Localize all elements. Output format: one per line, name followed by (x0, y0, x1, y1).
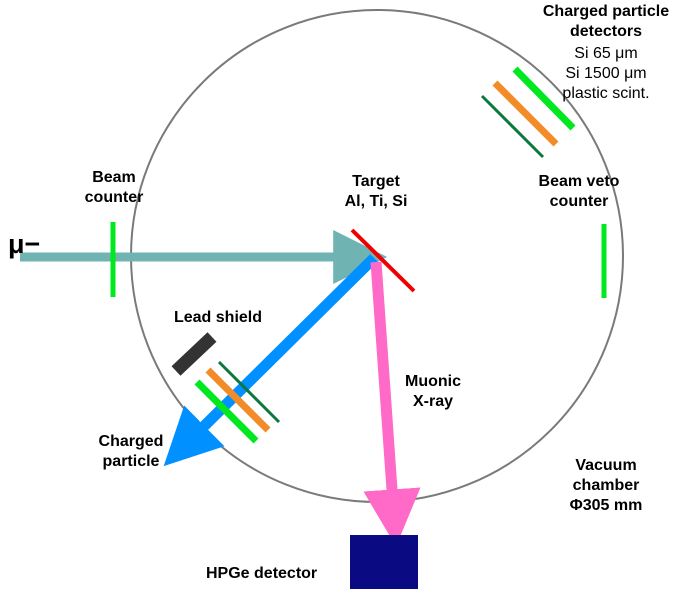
charged-particle-detectors-specs: Si 65 μm Si 1500 μm plastic scint. (516, 44, 696, 104)
beam-counter-label: Beam counter (62, 168, 166, 208)
lead-shield-label: Lead shield (156, 308, 280, 328)
hpge-detector-box (350, 535, 418, 589)
charged-particle-detectors-title: Charged particle detectors (516, 2, 696, 42)
hpge-detector-label: HPGe detector (206, 564, 356, 584)
lead-shield-bar (176, 337, 212, 371)
target-label: Target Al, Ti, Si (318, 172, 434, 212)
charged-particle-arrow (184, 258, 374, 446)
charged-particle-label: Charged particle (76, 432, 186, 472)
beam-veto-counter-label: Beam veto counter (512, 172, 646, 212)
vacuum-chamber-label: Vacuum chamber Φ305 mm (546, 456, 666, 516)
muonic-xray-label: Muonic X-ray (386, 372, 480, 412)
beam-particle-label: μ− (8, 228, 40, 262)
muonic-xray-setup-diagram: μ− Beam counter Target Al, Ti, Si Charge… (0, 0, 696, 589)
